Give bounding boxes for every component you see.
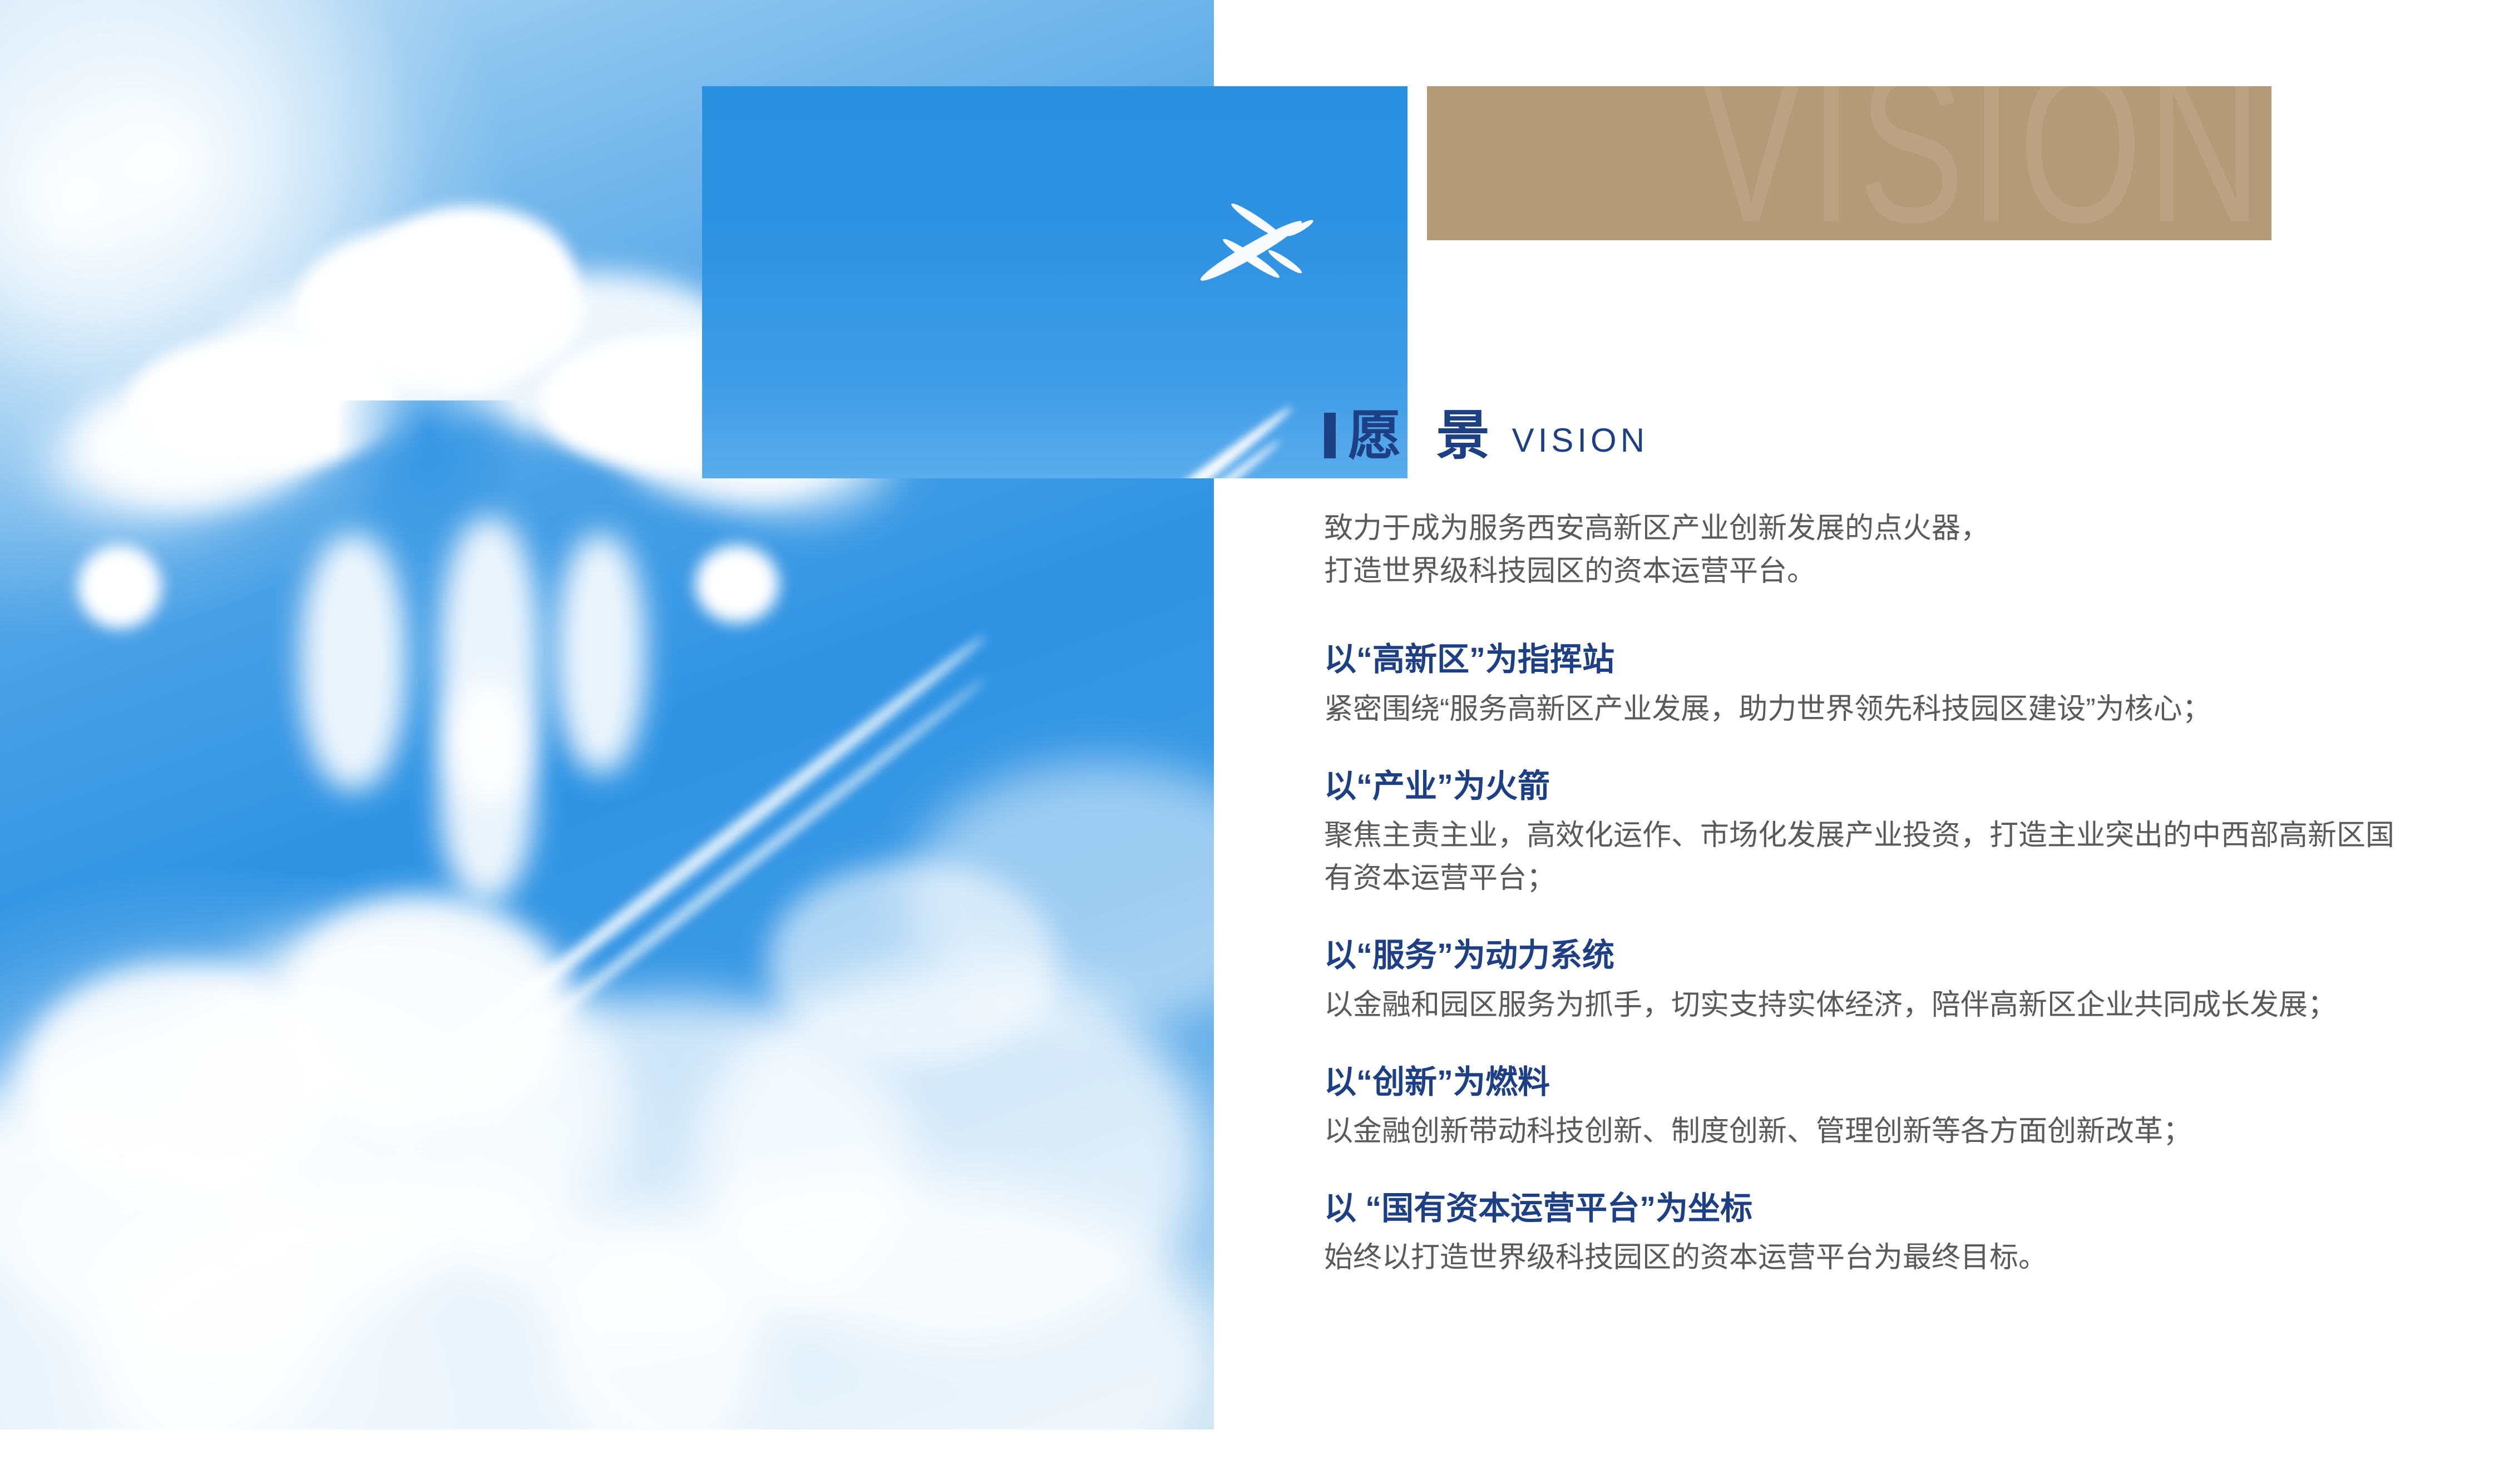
vision-watermark-text: VISION: [1698, 86, 2267, 240]
section-body: 以金融创新带动科技创新、制度创新、管理创新等各方面创新改革；: [1324, 1110, 2398, 1153]
vision-section: 以 “国有资本运营平台”为坐标 始终以打造世界级科技园区的资本运营平台为最终目标…: [1324, 1189, 2414, 1279]
section-heading: 以“高新区”为指挥站: [1324, 640, 2414, 680]
intro-line-2: 打造世界级科技园区的资本运营平台。: [1324, 550, 2414, 593]
vision-section: 以“高新区”为指挥站 紧密围绕“服务高新区产业发展，助力世界领先科技园区建设”为…: [1324, 640, 2414, 730]
vision-content-column: 愿 景 VISION 致力于成为服务西安高新区产业创新发展的点火器， 打造世界级…: [1324, 412, 2414, 1279]
section-body: 聚焦主责主业，高效化运作、市场化发展产业投资，打造主业突出的中西部高新区国有资本…: [1324, 814, 2398, 900]
vision-section: 以“服务”为动力系统 以金融和园区服务为抓手，切实支持实体经济，陪伴高新区企业共…: [1324, 936, 2414, 1026]
cumulus-cloud-bank: [0, 795, 1214, 1429]
title-accent-bar: [1324, 413, 1336, 458]
section-heading: 以“创新”为燃料: [1324, 1062, 2414, 1103]
slide-page: VISION 愿 景 VISION 致力于成为服务西安高新区产业创新发展的点火器…: [0, 0, 2494, 1484]
airplane-icon: [1181, 200, 1320, 306]
title-chinese: 愿 景: [1348, 412, 1500, 461]
airplane-contrail-sky-photo: [702, 86, 1407, 478]
section-heading: 以 “国有资本运营平台”为坐标: [1324, 1189, 2414, 1229]
vision-banner: VISION: [1427, 86, 2271, 240]
cloud-arrow-head: [83, 239, 796, 551]
intro-line-1: 致力于成为服务西安高新区产业创新发展的点火器，: [1324, 507, 2414, 550]
page-title: 愿 景 VISION: [1324, 412, 2414, 461]
section-heading: 以“产业”为火箭: [1324, 766, 2414, 807]
section-body: 紧密围绕“服务高新区产业发展，助力世界领先科技园区建设”为核心；: [1324, 688, 2398, 731]
vision-section: 以“创新”为燃料 以金融创新带动科技创新、制度创新、管理创新等各方面创新改革；: [1324, 1062, 2414, 1153]
section-body: 以金融和园区服务为抓手，切实支持实体经济，陪伴高新区企业共同成长发展；: [1324, 984, 2398, 1027]
vision-section: 以“产业”为火箭 聚焦主责主业，高效化运作、市场化发展产业投资，打造主业突出的中…: [1324, 766, 2414, 900]
intro-paragraph: 致力于成为服务西安高新区产业创新发展的点火器， 打造世界级科技园区的资本运营平台…: [1324, 507, 2414, 593]
title-english: VISION: [1512, 424, 1648, 461]
section-heading: 以“服务”为动力系统: [1324, 936, 2414, 976]
section-body: 始终以打造世界级科技园区的资本运营平台为最终目标。: [1324, 1236, 2398, 1279]
